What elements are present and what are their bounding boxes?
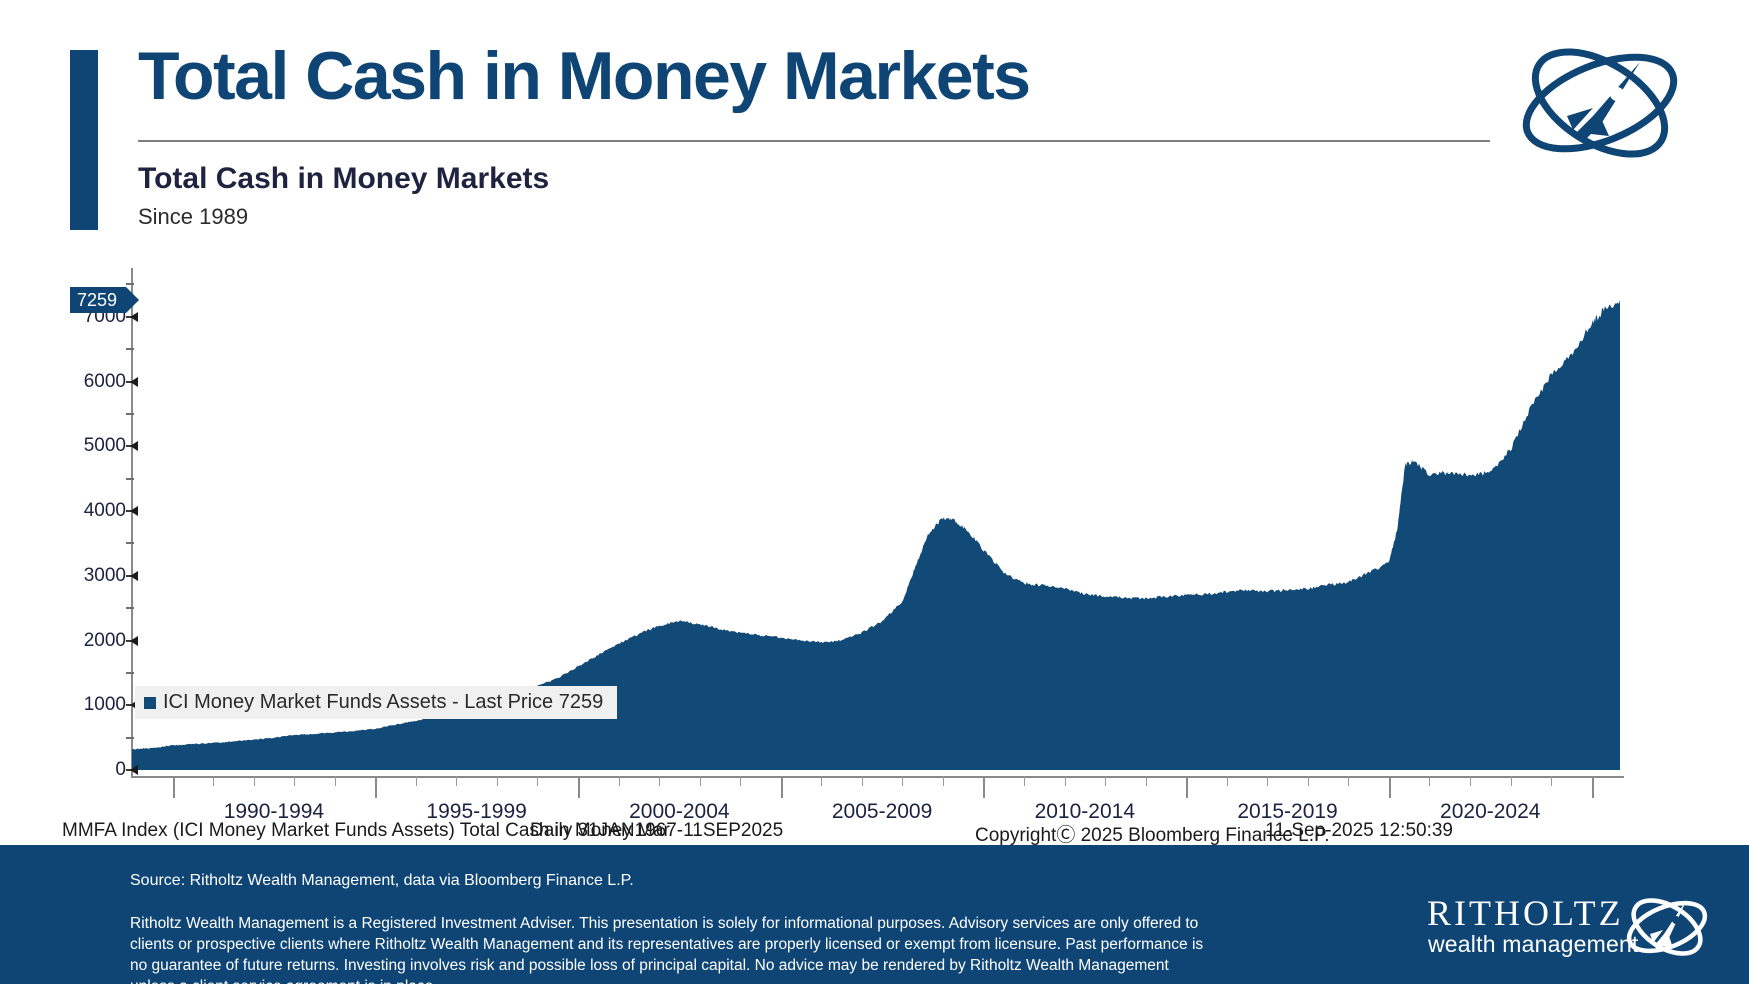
legal-disclaimer: Ritholtz Wealth Management is a Register… <box>130 914 1210 998</box>
y-axis-tick-minor <box>126 413 134 415</box>
x-axis-tick-minor <box>1105 776 1106 786</box>
chart-subtitle: Total Cash in Money Markets <box>138 162 549 196</box>
y-axis-tick-minor <box>126 672 134 674</box>
y-axis-tick-label: 5000 <box>8 435 126 457</box>
x-axis-tick-minor <box>1308 776 1309 786</box>
x-axis-tick-minor <box>1267 776 1268 786</box>
y-axis-tick-major <box>126 381 137 383</box>
source-note: Source: Ritholtz Wealth Management, data… <box>130 872 634 890</box>
legend-color-swatch <box>144 697 156 709</box>
x-axis-tick-minor <box>740 776 741 786</box>
x-axis-tick-minor <box>619 776 620 786</box>
last-price-badge: 7259 <box>70 287 126 313</box>
y-axis-tick-major <box>126 640 137 642</box>
x-axis-tick-minor <box>1470 776 1471 786</box>
x-axis-tick-minor <box>659 776 660 786</box>
y-axis-tick-minor <box>126 283 134 285</box>
ritholtz-orbit-rocket-icon <box>1505 38 1695 168</box>
y-axis-tick-minor <box>126 478 134 480</box>
y-axis-tick-label: 3000 <box>8 565 126 587</box>
x-axis-tick-minor <box>1065 776 1066 786</box>
y-axis-tick-label: 1000 <box>8 694 126 716</box>
x-axis-tick-major <box>1186 776 1188 798</box>
x-axis-tick-minor <box>213 776 214 786</box>
x-axis-tick-minor <box>700 776 701 786</box>
x-axis-tick-major <box>1389 776 1391 798</box>
x-axis-tick-minor <box>1024 776 1025 786</box>
y-axis-tick-minor <box>126 607 134 609</box>
x-axis-tick-major <box>578 776 580 798</box>
x-axis-tick-minor <box>537 776 538 786</box>
x-axis-tick-minor <box>416 776 417 786</box>
x-axis-tick-minor <box>943 776 944 786</box>
chart-area <box>0 248 1749 808</box>
x-axis-tick-minor <box>1511 776 1512 786</box>
ritholtz-logo: RITHOLTZ wealth management <box>1423 887 1713 969</box>
x-axis-tick-major <box>781 776 783 798</box>
x-axis-tick-major <box>983 776 985 798</box>
y-axis-tick-minor <box>126 348 134 350</box>
x-axis-tick-major <box>1592 776 1594 798</box>
y-axis-tick-label: 2000 <box>8 630 126 652</box>
legend-label: ICI Money Market Funds Assets - Last Pri… <box>163 691 603 714</box>
x-axis-tick-minor <box>456 776 457 786</box>
y-axis-tick-major <box>126 445 137 447</box>
x-axis-tick-minor <box>1551 776 1552 786</box>
x-axis-tick-minor <box>1146 776 1147 786</box>
x-axis-tick-minor <box>254 776 255 786</box>
y-axis-tick-major <box>126 510 137 512</box>
x-axis-tick-major <box>375 776 377 798</box>
header: Total Cash in Money Markets Total Cash i… <box>0 0 1749 250</box>
x-axis-tick-minor <box>1227 776 1228 786</box>
bloomberg-footer: MMFA Index (ICI Money Market Funds Asset… <box>0 820 1749 846</box>
ritholtz-logo-tagline: wealth management <box>1428 933 1639 956</box>
x-axis-tick-minor <box>821 776 822 786</box>
chart-legend[interactable]: ICI Money Market Funds Assets - Last Pri… <box>135 686 617 719</box>
y-axis-tick-label: 6000 <box>8 371 126 393</box>
header-accent-bar <box>70 50 98 230</box>
page-title: Total Cash in Money Markets <box>138 42 1030 110</box>
x-axis-tick-minor <box>1429 776 1430 786</box>
y-axis-tick-minor <box>126 542 134 544</box>
chart-period-label: Since 1989 <box>138 204 248 230</box>
disclaimer-band: Source: Ritholtz Wealth Management, data… <box>0 845 1749 984</box>
x-axis-tick-minor <box>335 776 336 786</box>
x-axis-tick-minor <box>902 776 903 786</box>
bloomberg-timestamp: 11-Sep-2025 12:50:39 <box>1265 820 1453 842</box>
bloomberg-frequency-range: Daily 31JAN1967-11SEP2025 <box>530 820 783 842</box>
x-axis-tick-minor <box>1348 776 1349 786</box>
x-axis-tick-minor <box>862 776 863 786</box>
ritholtz-orbit-rocket-icon <box>1621 887 1713 967</box>
y-axis-tick-label: 4000 <box>8 500 126 522</box>
x-axis-tick-major <box>173 776 175 798</box>
y-axis-tick-major <box>126 575 137 577</box>
y-axis-ticks: 01000200030004000500060007000 <box>0 248 126 808</box>
ritholtz-logo-wordmark: RITHOLTZ <box>1427 895 1624 931</box>
x-axis-tick-minor <box>497 776 498 786</box>
y-axis-tick-major <box>126 316 137 318</box>
y-axis-tick-major <box>126 769 137 771</box>
title-divider <box>138 140 1490 142</box>
x-axis-tick-minor <box>294 776 295 786</box>
y-axis-tick-minor <box>126 737 134 739</box>
slide-canvas: Total Cash in Money Markets Total Cash i… <box>0 0 1749 984</box>
